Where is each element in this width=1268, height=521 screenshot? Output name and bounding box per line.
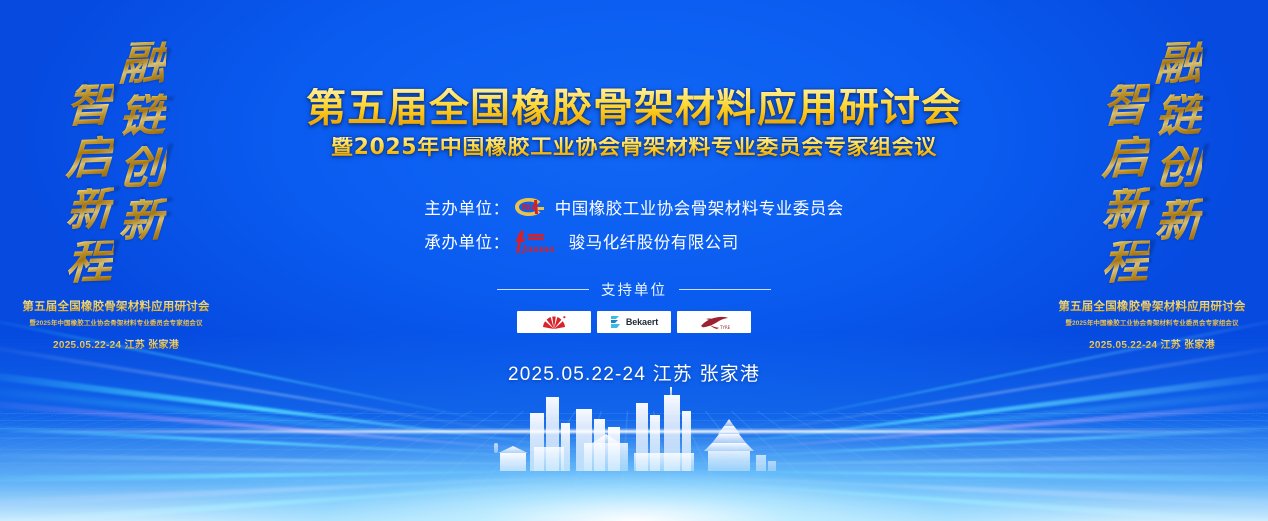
cria-logo: RIA <box>512 196 546 218</box>
main-title: 第五届全国橡胶骨架材料应用研讨会 <box>306 88 962 128</box>
calligraphy-char: 新 <box>1101 188 1150 233</box>
calligraphy-char: 新 <box>1154 198 1203 243</box>
organizer-block: 主办单位： RIA 中国橡胶工业协会骨架材料专业委员会 承办单位： <box>424 195 844 254</box>
event-date-location: 2025.05.22-24 江苏 张家港 <box>508 359 760 386</box>
calligraphy-column-1: 融 链 创 新 <box>1155 42 1202 251</box>
organizer-row-host: 主办单位： RIA 中国橡胶工业协会骨架材料专业委员会 <box>424 195 844 219</box>
organizer-label: 主办单位： <box>424 195 510 219</box>
sunburst-icon <box>541 315 567 330</box>
svg-text:RIA: RIA <box>522 203 538 212</box>
svg-text:Junma: Junma <box>520 245 555 254</box>
calligraphy-char: 融 <box>1154 41 1203 86</box>
support-units-block: 支持单位 <box>497 279 771 333</box>
calligraphy-column-1: 融 链 创 新 <box>119 42 166 251</box>
bekaert-label: Bekaert <box>626 317 658 327</box>
calligraphy-column-2: 智 启 新 程 <box>1102 84 1149 293</box>
side-caption-title: 第五届全国橡胶骨架材料应用研讨会 <box>1036 298 1268 314</box>
sub-title: 暨2025年中国橡胶工业协会骨架材料专业委员会专家组会议 <box>306 137 962 159</box>
calligraphy-char: 创 <box>1154 146 1203 191</box>
calligraphy-char: 链 <box>118 93 167 138</box>
support-logo-card: Bekaert <box>597 311 671 333</box>
calligraphy-right: 融 链 创 新 智 启 新 程 <box>1036 42 1268 293</box>
calligraphy-char: 新 <box>65 188 114 233</box>
side-caption-subtitle: 暨2025年中国橡胶工业协会骨架材料专业委员会专家组会议 <box>0 317 232 327</box>
calligraphy-column-2: 智 启 新 程 <box>66 84 113 293</box>
right-side-caption: 第五届全国橡胶骨架材料应用研讨会 暨2025年中国橡胶工业协会骨架材料专业委员会… <box>1036 298 1268 351</box>
svg-text:TYRE: TYRE <box>719 325 731 330</box>
calligraphy-char: 智 <box>65 83 114 128</box>
calligraphy-char: 融 <box>118 41 167 86</box>
calligraphy-char: 启 <box>1101 135 1150 180</box>
support-heading-row: 支持单位 <box>497 279 771 300</box>
support-heading: 支持单位 <box>601 279 667 300</box>
organizer-label: 承办单位： <box>424 229 510 253</box>
support-logo-card <box>517 311 591 333</box>
bekaert-icon <box>610 315 623 329</box>
calligraphy-left: 融 链 创 新 智 启 新 程 <box>0 42 232 293</box>
calligraphy-char: 链 <box>1154 93 1203 138</box>
junma-logo: Junma <box>512 228 560 254</box>
organizer-name: 骏马化纤股份有限公司 <box>569 229 739 253</box>
organizer-row-organizer: 承办单位： Junma 骏马化纤股份有限公司 <box>424 228 844 254</box>
calligraphy-char: 程 <box>1101 240 1150 285</box>
eagle-icon: TYRE <box>697 315 731 330</box>
calligraphy-char: 创 <box>118 146 167 191</box>
left-side-caption: 第五届全国橡胶骨架材料应用研讨会 暨2025年中国橡胶工业协会骨架材料专业委员会… <box>0 298 232 351</box>
calligraphy-char: 程 <box>65 240 114 285</box>
support-logo-card: TYRE <box>677 311 751 333</box>
title-block: 第五届全国橡胶骨架材料应用研讨会 暨2025年中国橡胶工业协会骨架材料专业委员会… <box>306 88 962 159</box>
calligraphy-char: 新 <box>118 198 167 243</box>
side-caption-title: 第五届全国橡胶骨架材料应用研讨会 <box>0 298 232 314</box>
side-caption-date: 2025.05.22-24 江苏 张家港 <box>1036 336 1268 351</box>
banner-center-content: 第五届全国橡胶骨架材料应用研讨会 暨2025年中国橡胶工业协会骨架材料专业委员会… <box>232 0 1036 521</box>
conference-banner: 融 链 创 新 智 启 新 程 第五届全国橡胶骨架材料应用研讨会 暨2025年中… <box>0 0 1268 521</box>
calligraphy-char: 启 <box>65 135 114 180</box>
divider-left <box>497 289 589 290</box>
divider-right <box>679 289 771 290</box>
side-caption-date: 2025.05.22-24 江苏 张家港 <box>0 336 232 351</box>
organizer-name: 中国橡胶工业协会骨架材料专业委员会 <box>555 195 844 219</box>
right-decoration-panel: 融 链 创 新 智 启 新 程 第五届全国橡胶骨架材料应用研讨会 暨2025年中… <box>1036 0 1268 521</box>
left-decoration-panel: 融 链 创 新 智 启 新 程 第五届全国橡胶骨架材料应用研讨会 暨2025年中… <box>0 0 232 521</box>
side-caption-subtitle: 暨2025年中国橡胶工业协会骨架材料专业委员会专家组会议 <box>1036 317 1268 327</box>
calligraphy-char: 智 <box>1101 83 1150 128</box>
support-logo-strip: Bekaert TYRE <box>517 311 751 333</box>
